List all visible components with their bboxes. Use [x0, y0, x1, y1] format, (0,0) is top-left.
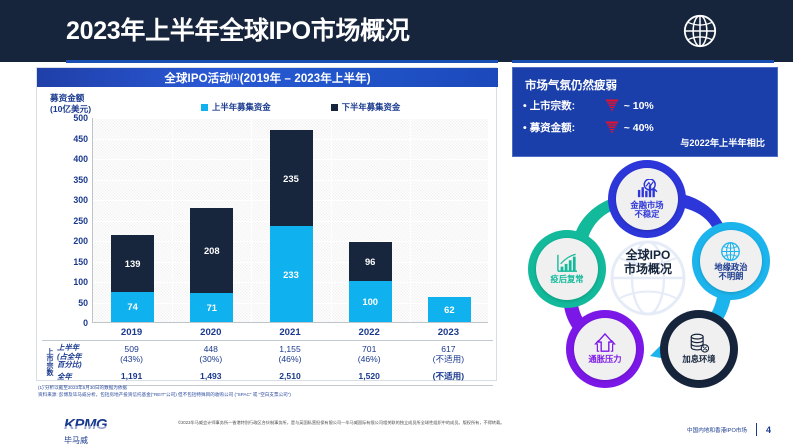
market-row-value-2: ~ 40% [624, 122, 654, 134]
node-label-line1: 通胀压力 [588, 354, 621, 364]
table-rotated-label: 上市宗数 [42, 342, 56, 382]
accent-rule-left [66, 60, 498, 63]
globe-icon [681, 12, 719, 50]
chart-title-footnote-marker: (1) [231, 74, 240, 81]
down-arrow-icon [605, 99, 619, 112]
chart-bar-2023[interactable]: 62 [428, 297, 471, 322]
diagram-node-geopolitics[interactable]: 地缘政治 不明朗 [692, 222, 770, 300]
legend-item-h2: 下半年募集资金 [331, 101, 401, 113]
up-arrows-icon [594, 333, 616, 353]
node-inner-post-pandemic: 疫后复常 [536, 238, 598, 300]
table-row2-label: 全年 [57, 373, 72, 382]
market-box-note: 与2022年上半年相比 [680, 135, 765, 149]
node-label-line1: 地缘政治 [714, 262, 747, 272]
market-row-bullet-2: • [523, 122, 527, 134]
y-axis-tick: 250 [73, 216, 88, 226]
accent-rule-right [512, 60, 774, 63]
table-cell-h1-2021: 1,155(46%) [279, 344, 302, 364]
chart-legend: 上半年募集资金 下半年募集资金 [201, 101, 400, 113]
bar-segment-h2: 96 [349, 242, 392, 281]
bar-growth-icon [556, 253, 578, 273]
globe-icon [720, 241, 742, 261]
node-inner-rate-hikes: 加息环境 [668, 318, 730, 380]
node-label-financial-market: 金融市场 不稳定 [630, 201, 663, 220]
market-row-bullet-1: • [523, 100, 527, 112]
x-axis-tick-2023: 2023 [438, 327, 459, 338]
legend-swatch-h1 [201, 104, 208, 111]
bar-segment-h1: 74 [111, 292, 154, 322]
chart-title-main: 全球IPO活动 [164, 70, 231, 86]
y-axis-tick: 400 [73, 154, 88, 164]
table-cell-full-2021: 2,510 [279, 371, 301, 381]
y-axis-tick: 100 [73, 277, 88, 287]
chart-gridline-v [331, 118, 332, 322]
chart-title-range: (2019年 – 2023年上半年) [240, 70, 371, 86]
node-label-line1: 疫后复常 [550, 274, 583, 284]
footer-right: 中国内地和香港IPO市场 4 [687, 423, 771, 436]
y-axis-tick: 0 [83, 318, 88, 328]
legend-item-h1: 上半年募集资金 [201, 101, 271, 113]
chart-bar-2020[interactable]: 20871 [190, 208, 233, 322]
diagram-node-rate-hikes[interactable]: 加息环境 [660, 310, 738, 388]
chart-bar-2021[interactable]: 235233 [270, 130, 313, 322]
node-label-line1: 金融市场 [630, 200, 663, 210]
node-inner-geopolitics: 地缘政治 不明朗 [700, 230, 762, 292]
chart-bar-2022[interactable]: 96100 [349, 242, 392, 322]
x-axis-tick-2021: 2021 [279, 327, 300, 338]
node-inner-financial-market: 金融市场 不稳定 [616, 168, 678, 230]
footer-divider [756, 423, 757, 436]
node-label-post-pandemic: 疫后复常 [550, 275, 583, 285]
chart-gridline-v [410, 118, 411, 322]
chart-panel: 全球IPO活动(1) (2019年 – 2023年上半年) 募资金额 (10亿美… [36, 67, 497, 381]
chart-title: 全球IPO活动(1) (2019年 – 2023年上半年) [37, 68, 498, 87]
table-cell-full-2019: 1,191 [121, 371, 143, 381]
y-axis-tick: 50 [78, 298, 88, 308]
down-arrow-icon [605, 121, 619, 134]
drivers-diagram: 金融市场 不稳定 地缘政治 [508, 160, 786, 382]
chart-gridline-h [93, 118, 488, 119]
market-row-value-1: ~ 10% [624, 100, 654, 112]
table-cell-h1-2023: 617(不适用) [433, 344, 465, 364]
chart-plot-area: 0501001502002503003504004505001397420871… [92, 118, 488, 323]
diagram-node-post-pandemic[interactable]: 疫后复常 [528, 230, 606, 308]
y-axis-tick: 450 [73, 134, 88, 144]
node-label-rate-hikes: 加息环境 [682, 355, 715, 365]
legend-swatch-h2 [331, 104, 338, 111]
chart-volatility-icon [636, 179, 658, 199]
table-cell-h1-2020: 448(30%) [199, 344, 222, 364]
chart-gridline-v [251, 118, 252, 322]
slide-root: 2023年上半年全球IPO市场概况 全球IPO活动(1) (2019年 – 20… [0, 0, 793, 446]
footnote-line-2: 资料来源: 彭博及毕马威分析。包括房地产投资信托基金("REIT"公司) 但不包… [38, 391, 498, 398]
legend-label-h1: 上半年募集资金 [212, 101, 271, 113]
y-axis-tick: 300 [73, 195, 88, 205]
chart-gridline-v [172, 118, 173, 322]
kpmg-logo: KPMG 毕马威 [64, 416, 116, 446]
footer-label: 中国内地和香港IPO市场 [687, 426, 747, 434]
table-cell-h1-2022: 701(46%) [358, 344, 381, 364]
center-label-line1: 全球IPO [603, 248, 693, 262]
market-row-listings: • 上市宗数: ~ 10% [523, 98, 654, 113]
y-axis-tick: 150 [73, 257, 88, 267]
bar-segment-h1: 100 [349, 281, 392, 322]
node-label-inflation: 通胀压力 [588, 355, 621, 365]
x-axis-tick-2019: 2019 [121, 327, 142, 338]
x-axis-tick-2022: 2022 [359, 327, 380, 338]
y-axis-tick: 200 [73, 236, 88, 246]
y-axis-title: 募资金额 (10亿美元) [50, 93, 91, 115]
page-number: 4 [766, 425, 771, 435]
node-label-line2: 不稳定 [635, 209, 660, 219]
diagram-node-financial-market[interactable]: 金融市场 不稳定 [608, 160, 686, 238]
diagram-node-inflation[interactable]: 通胀压力 [566, 310, 644, 388]
y-axis-tick: 500 [73, 113, 88, 123]
chart-bar-2019[interactable]: 13974 [111, 235, 154, 322]
bar-segment-h1: 233 [270, 226, 313, 322]
table-cell-full-2020: 1,493 [200, 371, 222, 381]
bar-segment-h2: 139 [111, 235, 154, 292]
table-cell-full-2023: (不适用) [433, 371, 465, 381]
table-cell-full-2022: 1,520 [358, 371, 380, 381]
table-row1-label: 上半年(占全年百分比) [57, 344, 82, 370]
node-label-line2: 不明朗 [719, 271, 744, 281]
market-row-label-1: 上市宗数: [530, 98, 600, 113]
node-label-geopolitics: 地缘政治 不明朗 [714, 263, 747, 282]
table-cell-h1-2019: 509(43%) [120, 344, 143, 364]
bar-segment-h1: 71 [190, 293, 233, 322]
table-top-separator [42, 340, 493, 341]
y-axis-tick: 350 [73, 175, 88, 185]
chart-footnotes: (1) 分析以截至2023年6月30日的数据为依据 资料来源: 彭博及毕马威分析… [38, 384, 498, 398]
market-sentiment-box: 市场气氛仍然疲弱 • 上市宗数: ~ 10% • 募资金额: [512, 67, 778, 157]
market-box-title: 市场气氛仍然疲弱 [525, 77, 617, 93]
legend-label-h2: 下半年募集资金 [342, 101, 401, 113]
node-label-line1: 加息环境 [682, 354, 715, 364]
copyright-text: ©2023毕马威会计师事务所—香港特别行政区合伙制事务所，是与英国私营担保有限公… [178, 420, 578, 426]
market-row-label-2: 募资金额: [530, 120, 600, 135]
market-row-proceeds: • 募资金额: ~ 40% [523, 120, 654, 135]
node-inner-inflation: 通胀压力 [574, 318, 636, 380]
page-title: 2023年上半年全球IPO市场概况 [66, 11, 410, 47]
diagram-center-label: 全球IPO 市场概况 [603, 248, 693, 276]
y-axis-title-line1: 募资金额 [50, 93, 91, 104]
coins-icon [688, 333, 710, 353]
center-label-line2: 市场概况 [603, 262, 693, 276]
bar-segment-h1: 62 [428, 297, 471, 322]
slide-header: 2023年上半年全球IPO市场概况 [0, 0, 793, 62]
bar-segment-h2: 235 [270, 130, 313, 226]
kpmg-chinese-name: 毕马威 [64, 435, 116, 446]
kpmg-wordmark: KPMG [64, 416, 116, 433]
x-axis-tick-2020: 2020 [200, 327, 221, 338]
footnote-line-1: (1) 分析以截至2023年6月30日的数据为依据 [38, 384, 498, 391]
bar-segment-h2: 208 [190, 208, 233, 293]
